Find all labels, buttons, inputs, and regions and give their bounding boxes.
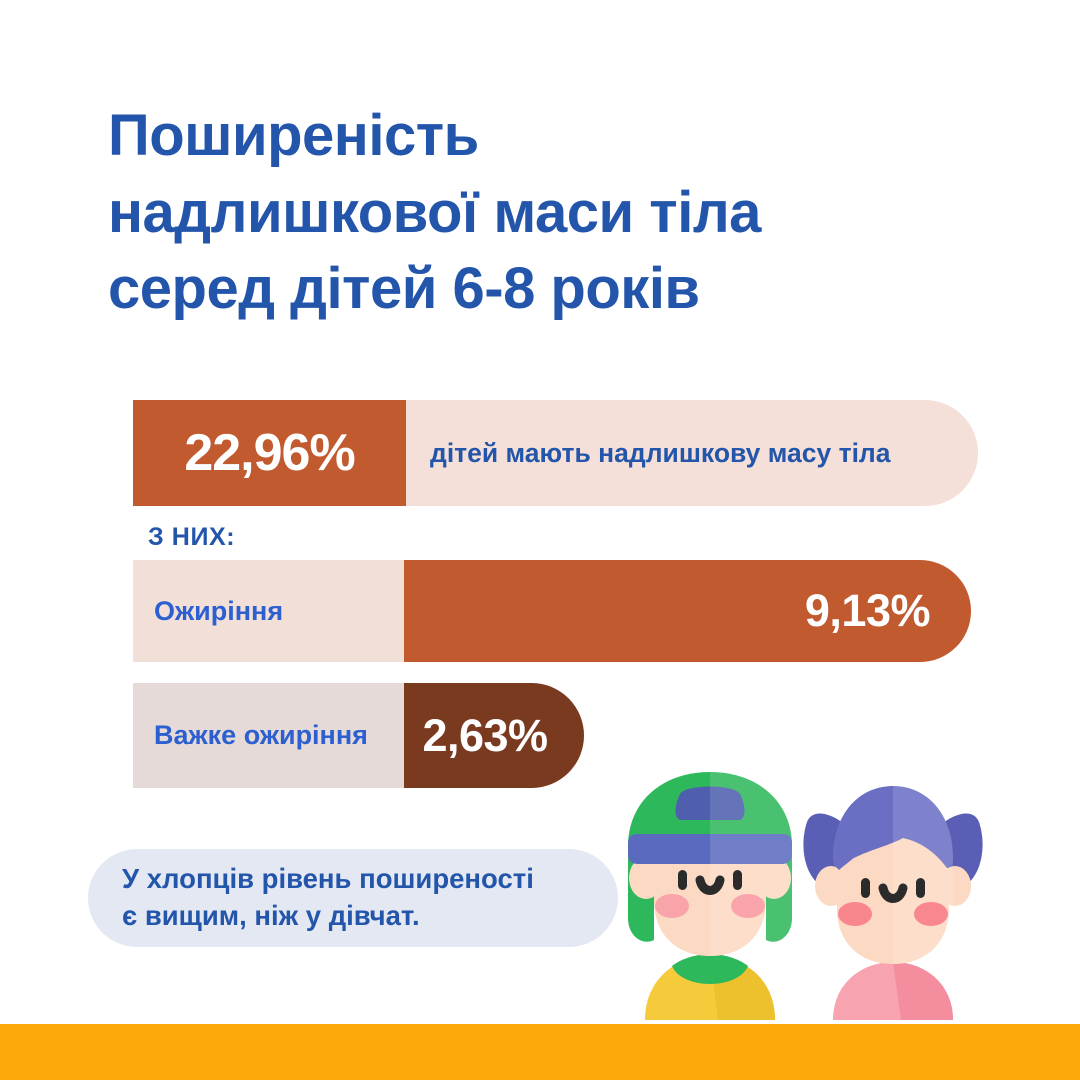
stat-bar-severe-obesity: Важке ожиріння 2,63%	[133, 683, 584, 788]
boy-with-cap-icon	[628, 772, 792, 1020]
note-line-1: У хлопців рівень поширеності	[122, 861, 534, 898]
note-line-2: є вищим, ніж у дівчат.	[122, 898, 534, 935]
page-title-line-1: Поширеність	[108, 98, 968, 175]
stat-bar-severe-obesity-label: Важке ожиріння	[133, 720, 404, 751]
subhead-of-them: З НИХ:	[148, 523, 235, 552]
stat-bar-obesity: Ожиріння 9,13%	[133, 560, 971, 662]
stat-bar-overweight-value: 22,96%	[184, 423, 354, 483]
girl-with-pigtails-icon	[803, 786, 982, 1020]
page-title-line-2: надлишкової маси тіла	[108, 175, 968, 252]
stat-bar-severe-obesity-value: 2,63%	[422, 710, 547, 762]
stat-bar-severe-obesity-fill: 2,63%	[404, 683, 584, 788]
children-illustration	[600, 758, 1070, 1020]
stat-bar-obesity-fill: 9,13%	[404, 560, 971, 662]
note-text: У хлопців рівень поширеності є вищим, ні…	[122, 861, 534, 934]
page-title-line-3: серед дітей 6-8 років	[108, 251, 968, 328]
stat-bar-overweight-fill: 22,96%	[133, 400, 406, 506]
stat-bar-overweight-caption: дітей мають надлишкову масу тіла	[406, 438, 891, 469]
children-illustration-svg	[600, 758, 1070, 1020]
note-box: У хлопців рівень поширеності є вищим, ні…	[88, 849, 618, 947]
stat-bar-obesity-value: 9,13%	[805, 585, 930, 637]
stat-bar-overweight: 22,96% дітей мають надлишкову масу тіла	[133, 400, 978, 506]
bottom-orange-band	[0, 1024, 1080, 1080]
stat-bar-obesity-label: Ожиріння	[133, 596, 404, 627]
page-title: Поширеність надлишкової маси тіла серед …	[108, 98, 968, 328]
